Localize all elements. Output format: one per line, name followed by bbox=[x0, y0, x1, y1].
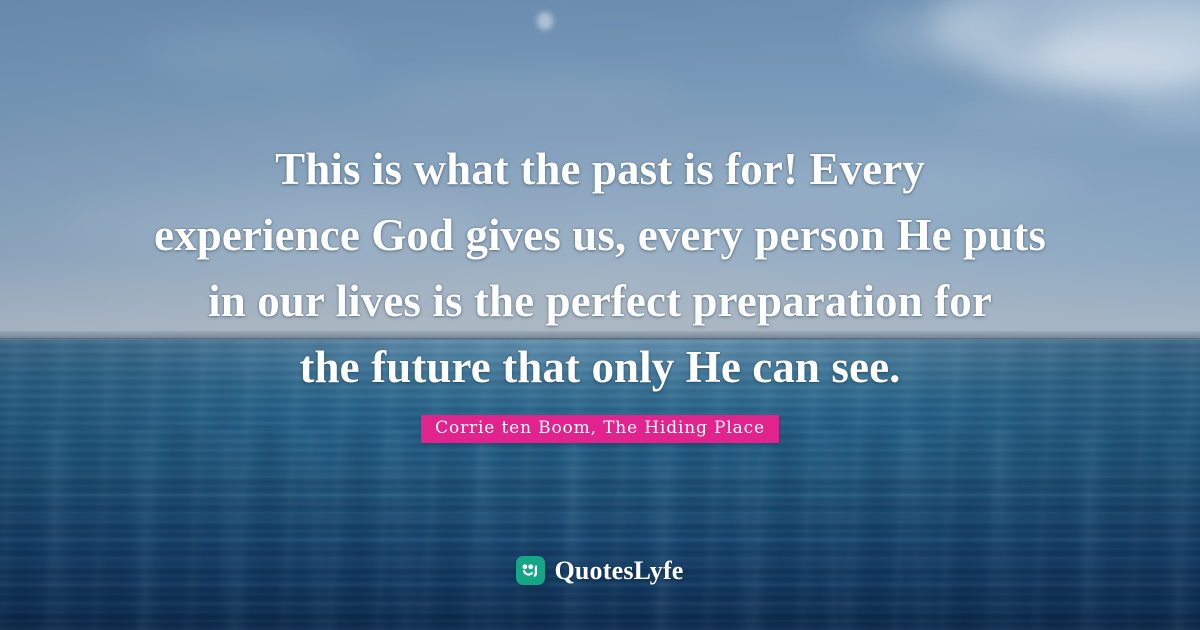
cloud-shape bbox=[985, 42, 1200, 92]
attribution-container: Corrie ten Boom, The Hiding Place bbox=[0, 415, 1200, 443]
quote-line: This is what the past is for! Every bbox=[0, 136, 1200, 202]
quoteslyfe-logo[interactable]: QuotesLyfe bbox=[0, 556, 1200, 585]
logo-wordmark: QuotesLyfe bbox=[554, 556, 683, 585]
attribution-badge[interactable]: Corrie ten Boom, The Hiding Place bbox=[421, 415, 779, 443]
cloud-shape bbox=[380, 74, 680, 114]
quote-line: the future that only He can see. bbox=[0, 334, 1200, 400]
cloud-shape bbox=[860, 6, 1020, 64]
moon-icon bbox=[537, 12, 553, 30]
quote-line: in our lives is the perfect preparation … bbox=[0, 268, 1200, 334]
cloud-shape bbox=[140, 30, 360, 74]
quote-card: This is what the past is for! Every expe… bbox=[0, 0, 1200, 630]
quote-text: This is what the past is for! Every expe… bbox=[0, 136, 1200, 400]
quote-mark-icon bbox=[516, 556, 545, 585]
quote-line: experience God gives us, every person He… bbox=[0, 202, 1200, 268]
